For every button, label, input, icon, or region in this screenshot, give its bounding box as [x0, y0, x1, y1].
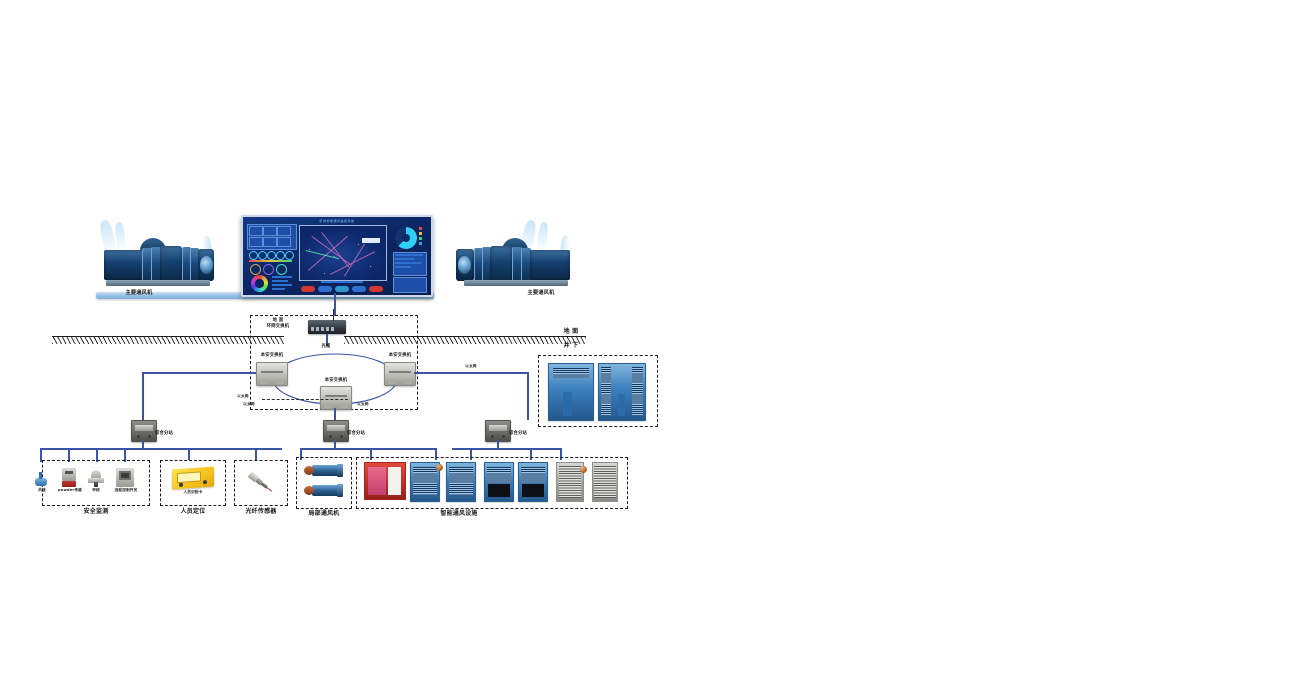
vent-facility-4: [518, 462, 548, 502]
personnel-id-card: [172, 467, 214, 490]
underground-layer-label: 井 下: [556, 343, 586, 350]
meter-bar: [395, 254, 423, 256]
group-personnel-positioning-label: 人员定位: [159, 509, 227, 516]
panel-tile[interactable]: [263, 237, 277, 247]
panel-tile[interactable]: [277, 226, 291, 236]
legend-swatch: [419, 237, 422, 240]
substation-display: [135, 425, 153, 431]
panel-tile[interactable]: [249, 237, 263, 247]
action-button[interactable]: [301, 286, 315, 292]
meter-bar: [272, 288, 285, 290]
anemometer-label: 风速: [32, 488, 52, 492]
facility-louver: [521, 467, 545, 483]
substation-knob: [340, 435, 343, 438]
switch-port: [326, 327, 329, 331]
methane-sensor-stem: [94, 482, 98, 487]
ventilation-network-view[interactable]: [299, 225, 387, 281]
fan-housing: [530, 250, 570, 280]
drop-fiber: [255, 448, 257, 460]
counterweight-ball: [580, 466, 587, 473]
main-ventilator-left: [96, 220, 224, 290]
switch-lug: [260, 381, 268, 384]
main-ventilator-right-label: 主要通风机: [508, 291, 574, 297]
fan-hub: [458, 256, 471, 274]
fan-duct: [312, 485, 340, 496]
personnel-id-card-label: 人员识别卡: [172, 490, 214, 494]
local-ventilator-upper: [304, 462, 344, 480]
is-switch-bottom[interactable]: [320, 386, 352, 410]
legend-swatch: [419, 242, 422, 245]
is-switch-right[interactable]: [384, 362, 416, 386]
panel-tile[interactable]: [263, 226, 277, 236]
ethernet-dashed-link: [262, 399, 348, 400]
donut-chart: [395, 227, 417, 249]
action-button[interactable]: [335, 286, 349, 292]
facility-opening: [522, 484, 544, 497]
substation-knob: [329, 435, 332, 438]
wire-isleft-to-subleft: [142, 372, 256, 374]
cabinet-louver: [601, 367, 611, 415]
legend-swatch: [419, 227, 422, 230]
gauge-icon: [249, 251, 258, 260]
methane-sensor-label: 甲烷: [86, 488, 106, 492]
cabinet-door: [618, 394, 625, 416]
switch-slot: [261, 371, 283, 373]
gauge-icon: [276, 251, 285, 260]
dust-sensor-display: [65, 471, 73, 474]
id-card-button: [179, 483, 183, 487]
id-card-screen: [177, 471, 201, 483]
substation-display: [489, 425, 507, 431]
fan-base: [464, 280, 568, 286]
panel-right-bottom: [393, 277, 427, 293]
switch-port: [321, 327, 324, 331]
panel-tile[interactable]: [249, 226, 263, 236]
switch-lug: [388, 381, 396, 384]
map-tooltip: [362, 238, 380, 243]
remote-switch-label: 远程控制开关: [110, 488, 142, 492]
switch-lug: [276, 381, 284, 384]
gauge-icon: [285, 251, 294, 260]
network-node: [370, 266, 371, 267]
switch-slot: [389, 371, 411, 373]
vent-facility-3: [484, 462, 514, 502]
group-safety-monitoring-label: 安全监测: [62, 509, 130, 516]
bus-left: [40, 448, 282, 450]
action-button[interactable]: [369, 286, 383, 292]
panel-tile[interactable]: [277, 237, 291, 247]
underground-cabinet-right: [598, 363, 646, 421]
diagram-canvas: 主要通风机 主要通风机 矿井智能通风监控系统: [0, 0, 1300, 700]
facility-louver: [449, 467, 473, 495]
ethernet-label-center: 以太网: [230, 394, 256, 398]
antenna-icon: [333, 309, 334, 321]
dust-sensor-base: [62, 481, 76, 487]
wire-isright-to-subright: [414, 372, 528, 374]
regulator-slats: [594, 466, 615, 498]
gauge-icon: [276, 264, 287, 275]
gauge-icon: [263, 264, 274, 275]
substation-knob: [491, 435, 494, 438]
status-bar: [249, 260, 292, 262]
id-card-button: [203, 480, 207, 484]
meter-bar: [272, 276, 292, 278]
fan-motor: [160, 246, 182, 284]
drop-idcard: [188, 448, 190, 460]
facility-louver: [413, 467, 437, 495]
switch-lug: [324, 405, 332, 408]
dust-sensor-label: powder传感: [58, 488, 82, 492]
gauge-icon: [267, 251, 276, 260]
airflow-stream: [536, 222, 549, 253]
cabinet-louver: [632, 367, 643, 415]
ethernet-label-right: 以太网: [458, 364, 484, 368]
legend-swatch: [419, 232, 422, 235]
substation-display: [327, 425, 345, 431]
wire-subright-vertical: [527, 372, 529, 420]
fan-flange: [337, 484, 343, 497]
vent-facility-2: [446, 462, 476, 502]
vent-regulator-2: [592, 462, 618, 502]
switch-screen: [121, 473, 129, 478]
fan-hub: [200, 256, 213, 274]
fiber-cable-label: 光缆: [313, 345, 339, 350]
fan-flange: [337, 464, 343, 477]
fan-motor: [490, 246, 512, 284]
fiber-cable: [267, 487, 273, 492]
substation-knob: [502, 435, 505, 438]
substation-knob: [137, 435, 140, 438]
dust-sensor: [62, 468, 76, 481]
action-button[interactable]: [318, 286, 332, 292]
switch-slot: [325, 395, 347, 397]
air-door-red: [364, 462, 406, 500]
meter-bar: [272, 284, 292, 286]
facility-opening: [488, 484, 510, 497]
gauge-icon: [258, 251, 267, 260]
meter-bar: [395, 262, 421, 264]
underground-cabinet-left: [548, 363, 594, 421]
meter-bar: [395, 266, 411, 268]
bus-center: [300, 448, 436, 450]
wire-monitor-to-ringswitch: [334, 293, 336, 316]
air-door-opening: [388, 467, 401, 495]
switch-port: [316, 327, 319, 331]
group-smart-ventilation-label: 智能通风设施: [410, 511, 508, 518]
gauge-icon: [250, 264, 261, 275]
ring-switch-label-line2: 环网交换机: [256, 325, 300, 330]
fan-motor-icon: [304, 466, 314, 475]
network-node: [324, 273, 325, 274]
is-switch-left[interactable]: [256, 362, 288, 386]
control-room-monitor[interactable]: 矿井智能通风监控系统: [241, 215, 433, 297]
regulator-slats: [559, 466, 582, 498]
ground-layer-label: 地 面: [556, 329, 586, 336]
substation-center-label: 综合分站: [347, 432, 381, 437]
air-door-leaf: [368, 467, 386, 495]
counterweight-ball: [436, 464, 443, 471]
switch-lug: [340, 405, 348, 408]
substation-center[interactable]: [323, 420, 349, 442]
timeline-bar[interactable]: [321, 281, 363, 283]
facility-louver: [487, 467, 511, 483]
meter-bar: [395, 258, 415, 260]
cabinet-door: [563, 392, 572, 416]
group-fiber-sensor-label: 光纤传感器: [228, 509, 294, 516]
main-ventilator-right: [450, 220, 578, 290]
ethernet-label-left: 以太网: [236, 402, 262, 406]
cabinet-louver: [553, 368, 590, 378]
network-edge: [344, 244, 365, 276]
local-ventilator-lower: [304, 482, 344, 500]
action-button[interactable]: [352, 286, 366, 292]
ethernet-label-sub: 以太网: [350, 402, 376, 406]
substation-knob: [148, 435, 151, 438]
wire-subleft-vertical: [142, 372, 144, 420]
airflow-stream: [114, 222, 127, 253]
color-wheel-icon: [251, 275, 268, 292]
switch-port: [311, 327, 314, 331]
monitor-title: 矿井智能通风监控系统: [243, 218, 431, 223]
is-switch-right-label: 本安交换机: [380, 354, 420, 359]
anemometer-stem: [39, 472, 42, 479]
is-switch-left-label: 本安交换机: [252, 354, 292, 359]
ring-network-switch[interactable]: [308, 320, 346, 334]
substation-left-label: 综合分站: [155, 432, 189, 437]
bus-right: [452, 448, 562, 450]
switch-port: [331, 327, 334, 331]
fan-base: [106, 280, 210, 286]
fan-motor-icon: [304, 486, 314, 495]
substation-left[interactable]: [131, 420, 157, 442]
fan-housing: [104, 250, 146, 280]
meter-bar: [272, 280, 288, 282]
fan-duct: [312, 465, 340, 476]
is-switch-bottom-label: 本安交换机: [316, 379, 356, 384]
network-node: [358, 244, 359, 245]
group-local-ventilator-label: 局部通风机: [290, 511, 358, 518]
anemometer-sensor: [35, 478, 47, 486]
substation-right-label: 综合分站: [509, 432, 543, 437]
substation-right[interactable]: [485, 420, 511, 442]
main-ventilator-left-label: 主要通风机: [106, 291, 172, 297]
switch-lug: [404, 381, 412, 384]
